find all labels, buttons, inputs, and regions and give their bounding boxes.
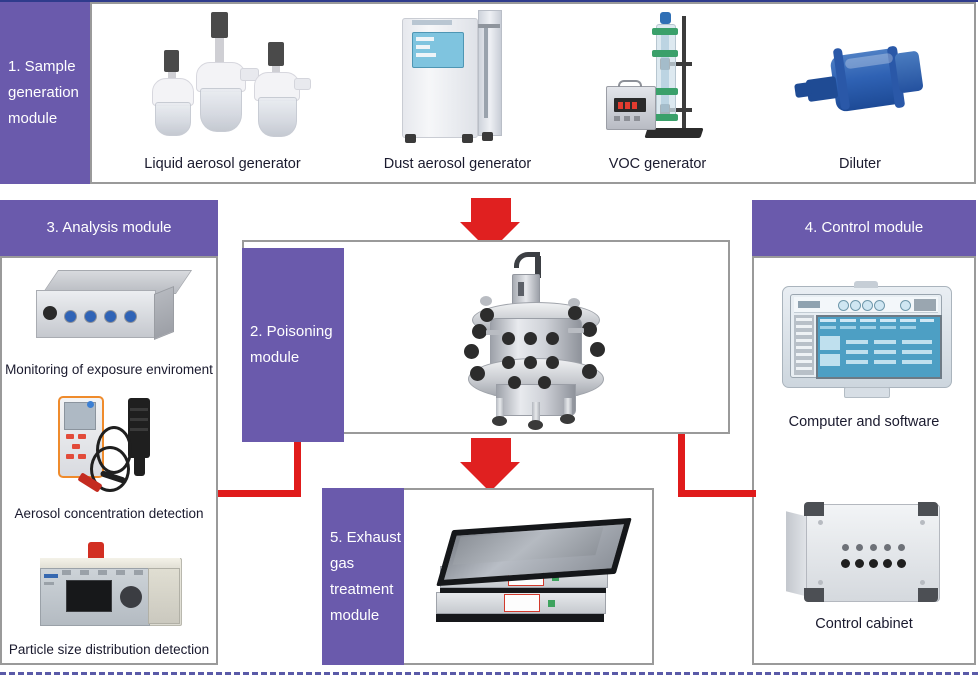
- monitoring-instrument-caption: Monitoring of exposure enviroment: [2, 362, 216, 377]
- sample-generation-label[interactable]: 1. Sample generation module: [0, 2, 90, 184]
- diagram-canvas: 1. Sample generation module: [0, 0, 978, 681]
- handheld-aerosol-detector-image: [46, 396, 176, 502]
- exhaust-module-label-line-4: module: [330, 603, 401, 629]
- poisoning-module-label[interactable]: 2. Poisoning module: [242, 248, 344, 442]
- particle-size-analyzer-item[interactable]: Particle size distribution detection: [2, 536, 216, 664]
- voc-generator-caption: VOC generator: [570, 156, 745, 172]
- dust-aerosol-generator-image: [402, 10, 522, 142]
- bottom-dashed-rule: [0, 672, 978, 675]
- handheld-aerosol-detector-caption: Aerosol concentration detection: [2, 506, 216, 521]
- sample-generation-label-line-2: generation: [8, 80, 79, 106]
- control-cabinet-caption: Control cabinet: [754, 616, 974, 632]
- exposure-chamber-item[interactable]: [350, 244, 726, 430]
- hepa-filter-stack-image: [430, 522, 630, 634]
- particle-size-analyzer-image: [32, 542, 190, 632]
- computer-software-caption: Computer and software: [754, 414, 974, 430]
- computer-software-item[interactable]: Computer and software: [754, 262, 974, 444]
- dust-aerosol-generator-item[interactable]: Dust aerosol generator: [350, 6, 565, 178]
- diluter-image: [793, 36, 933, 128]
- voc-generator-item[interactable]: VOC generator: [570, 6, 745, 178]
- exhaust-module-label[interactable]: 5. Exhaust gas treatment module: [322, 488, 404, 665]
- computer-software-image: [782, 286, 950, 398]
- exposure-chamber-image: [450, 252, 620, 424]
- diluter-item[interactable]: Diluter: [760, 6, 960, 178]
- liquid-aerosol-generator-item[interactable]: Liquid aerosol generator: [110, 6, 335, 178]
- sample-generation-label-line-3: module: [8, 106, 79, 132]
- control-module-label[interactable]: 4. Control module: [752, 200, 976, 256]
- line-poisoning-to-control-horizontal: [678, 490, 756, 497]
- particle-size-analyzer-caption: Particle size distribution detection: [2, 642, 216, 657]
- sample-generation-label-line-1: 1. Sample: [8, 54, 79, 80]
- liquid-aerosol-generator-caption: Liquid aerosol generator: [110, 156, 335, 172]
- control-module-label-text: 4. Control module: [805, 215, 923, 241]
- liquid-aerosol-generator-image: [138, 12, 318, 140]
- monitoring-instrument-item[interactable]: Monitoring of exposure enviroment: [2, 258, 216, 386]
- line-poisoning-to-control-vertical: [678, 434, 685, 496]
- exhaust-module-label-line-3: treatment: [330, 577, 401, 603]
- analysis-module-label[interactable]: 3. Analysis module: [0, 200, 218, 256]
- exhaust-module-label-line-2: gas: [330, 551, 401, 577]
- line-poisoning-to-analysis-horizontal: [218, 490, 301, 497]
- analysis-module-label-text: 3. Analysis module: [46, 215, 171, 241]
- arrow-down-poisoning-to-exhaust: [460, 438, 522, 490]
- dust-aerosol-generator-caption: Dust aerosol generator: [350, 156, 565, 172]
- exhaust-module-label-line-1: 5. Exhaust: [330, 525, 401, 551]
- control-cabinet-image: [786, 504, 946, 604]
- line-poisoning-to-analysis-vertical: [294, 434, 301, 496]
- hepa-filter-item[interactable]: [408, 492, 652, 662]
- diluter-caption: Diluter: [760, 156, 960, 172]
- monitoring-instrument-image: [36, 270, 186, 350]
- voc-generator-image: [604, 10, 720, 142]
- poisoning-module-label-line-1: 2. Poisoning: [250, 319, 333, 345]
- handheld-aerosol-detector-item[interactable]: Aerosol concentration detection: [2, 392, 216, 532]
- control-cabinet-item[interactable]: Control cabinet: [754, 480, 974, 660]
- poisoning-module-label-line-2: module: [250, 345, 333, 371]
